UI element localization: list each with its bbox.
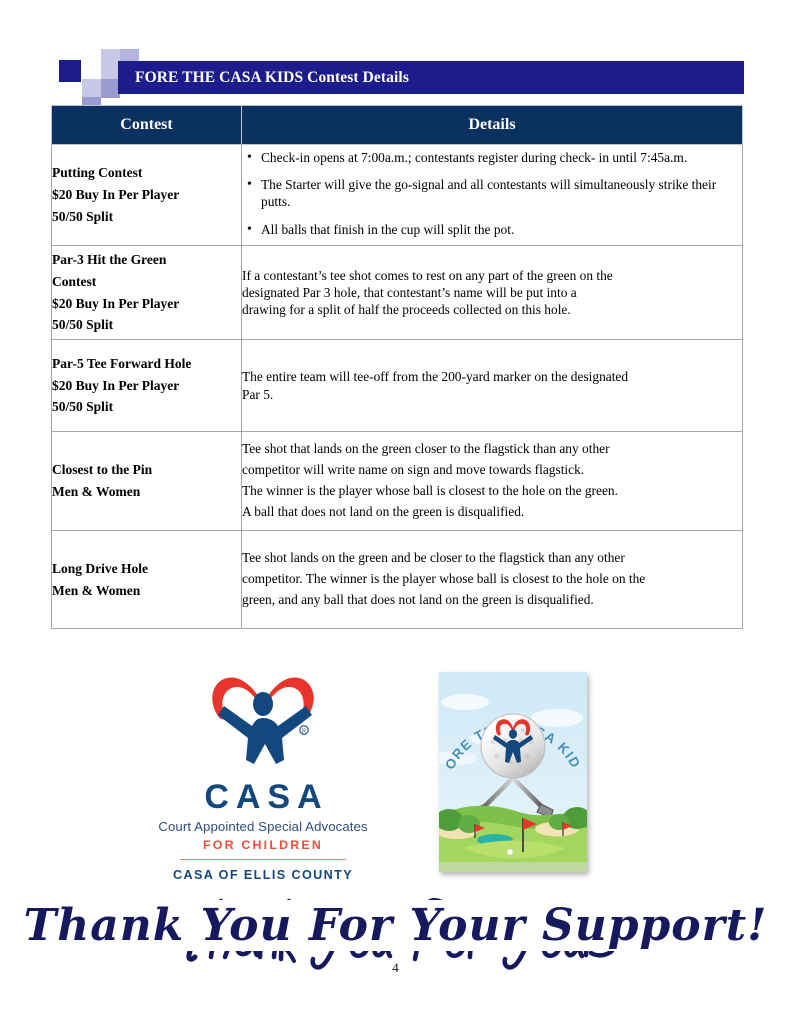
casa-wordmark: CASA — [156, 780, 370, 814]
contest-line: Putting Contest — [52, 162, 241, 184]
details-line: Tee shot lands on the green and be close… — [242, 548, 742, 569]
contest-line: Closest to the Pin — [52, 459, 241, 481]
casa-chapter-name: CASA OF ELLIS COUNTY — [156, 868, 370, 882]
column-header-details: Details — [242, 106, 743, 145]
details-line: drawing for a split of half the proceeds… — [242, 301, 742, 318]
details-line: green, and any ball that does not land o… — [242, 590, 742, 611]
casa-tagline: Court Appointed Special Advocates — [156, 819, 370, 834]
contest-line: 50/50 Split — [52, 314, 241, 336]
fore-the-casa-kids-logo: FORE THE CASA KIDS — [439, 672, 587, 872]
contest-cell: Putting Contest $20 Buy In Per Player 50… — [52, 145, 242, 246]
contest-line: Men & Women — [52, 481, 241, 503]
details-bullet: The Starter will give the go-signal and … — [261, 177, 742, 210]
details-line: The winner is the player whose ball is c… — [242, 481, 742, 502]
details-cell: The entire team will tee-off from the 20… — [242, 340, 743, 432]
table-row: Par-5 Tee Forward Hole $20 Buy In Per Pl… — [52, 340, 743, 432]
details-cell: Check-in opens at 7:00a.m.; contestants … — [242, 145, 743, 246]
golf-course-illustration-icon: FORE THE CASA KIDS — [439, 672, 587, 872]
casa-logo: R CASA Court Appointed Special Advocates… — [156, 668, 370, 882]
details-line: If a contestant’s tee shot comes to rest… — [242, 267, 742, 284]
page-title: FORE THE CASA KIDS Contest Details — [118, 69, 409, 87]
deco-square-navy — [59, 60, 81, 82]
golf-ball-icon — [481, 714, 545, 778]
contest-line: $20 Buy In Per Player — [52, 184, 241, 206]
details-line: Par 5. — [242, 386, 742, 403]
contest-line: 50/50 Split — [52, 396, 241, 418]
contest-cell: Par-3 Hit the Green Contest $20 Buy In P… — [52, 246, 242, 340]
table-body: Putting Contest $20 Buy In Per Player 50… — [52, 145, 743, 629]
deco-square-light-4 — [82, 79, 101, 98]
table-row: Putting Contest $20 Buy In Per Player 50… — [52, 145, 743, 246]
details-line: The entire team will tee-off from the 20… — [242, 368, 742, 385]
casa-for-children: FOR CHILDREN — [156, 838, 370, 852]
casa-divider — [180, 859, 346, 860]
casa-heart-figure-icon: R — [156, 668, 370, 778]
details-line: competitor will write name on sign and m… — [242, 460, 742, 481]
contest-line: Long Drive Hole — [52, 558, 241, 580]
table-row: Long Drive Hole Men & Women Tee shot lan… — [52, 531, 743, 629]
column-header-contest: Contest — [52, 106, 242, 145]
contest-cell: Par-5 Tee Forward Hole $20 Buy In Per Pl… — [52, 340, 242, 432]
details-bullet-list: Check-in opens at 7:00a.m.; contestants … — [242, 150, 742, 238]
details-line: designated Par 3 hole, that contestant’s… — [242, 284, 742, 301]
contest-line: $20 Buy In Per Player — [52, 375, 241, 397]
table-row: Closest to the Pin Men & Women Tee shot … — [52, 432, 743, 531]
contest-line: $20 Buy In Per Player — [52, 293, 241, 315]
details-line: competitor. The winner is the player who… — [242, 569, 742, 590]
contest-cell: Long Drive Hole Men & Women — [52, 531, 242, 629]
details-cell: Tee shot lands on the green and be close… — [242, 531, 743, 629]
details-bullet: Check-in opens at 7:00a.m.; contestants … — [261, 150, 742, 167]
contest-line: Par-3 Hit the Green — [52, 249, 241, 271]
details-bullet: All balls that finish in the cup will sp… — [261, 222, 742, 239]
contest-details-table: Contest Details Putting Contest $20 Buy … — [51, 105, 743, 629]
contest-line: Men & Women — [52, 580, 241, 602]
contest-line: Par-5 Tee Forward Hole — [52, 353, 241, 375]
details-line: Tee shot that lands on the green closer … — [242, 439, 742, 460]
details-cell: If a contestant’s tee shot comes to rest… — [242, 246, 743, 340]
contest-cell: Closest to the Pin Men & Women — [52, 432, 242, 531]
details-line: A ball that does not land on the green i… — [242, 502, 742, 523]
contest-line: 50/50 Split — [52, 206, 241, 228]
page-title-banner: FORE THE CASA KIDS Contest Details — [118, 61, 744, 94]
details-cell: Tee shot that lands on the green closer … — [242, 432, 743, 531]
svg-text:R: R — [302, 729, 306, 735]
contest-line: Contest — [52, 271, 241, 293]
page-number: 4 — [0, 960, 791, 976]
table-header-row: Contest Details — [52, 106, 743, 145]
table-row: Par-3 Hit the Green Contest $20 Buy In P… — [52, 246, 743, 340]
